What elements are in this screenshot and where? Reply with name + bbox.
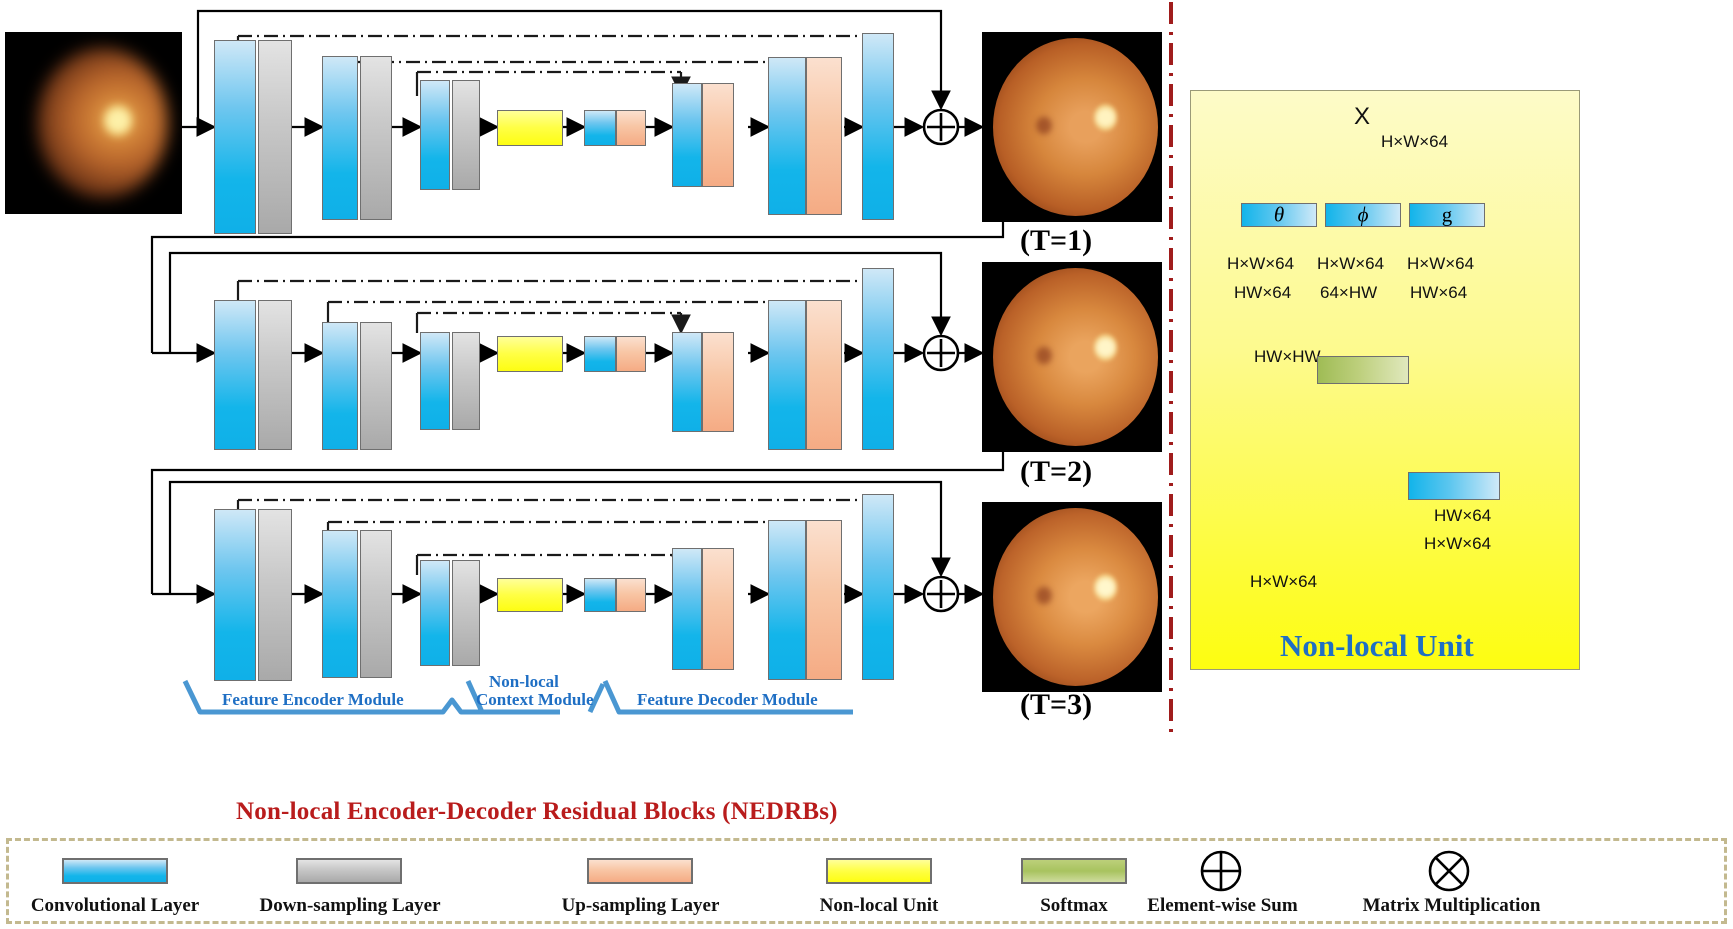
legend-label-element-wise-sum: Element-wise Sum [1140, 895, 1305, 917]
figure-root: (T=1) (T=2) (T=3) Feature Encoder Module… [0, 0, 1733, 929]
legend-symbols [0, 0, 1733, 929]
legend-label-matrix-multiplication: Matrix Multiplication [1344, 895, 1559, 917]
